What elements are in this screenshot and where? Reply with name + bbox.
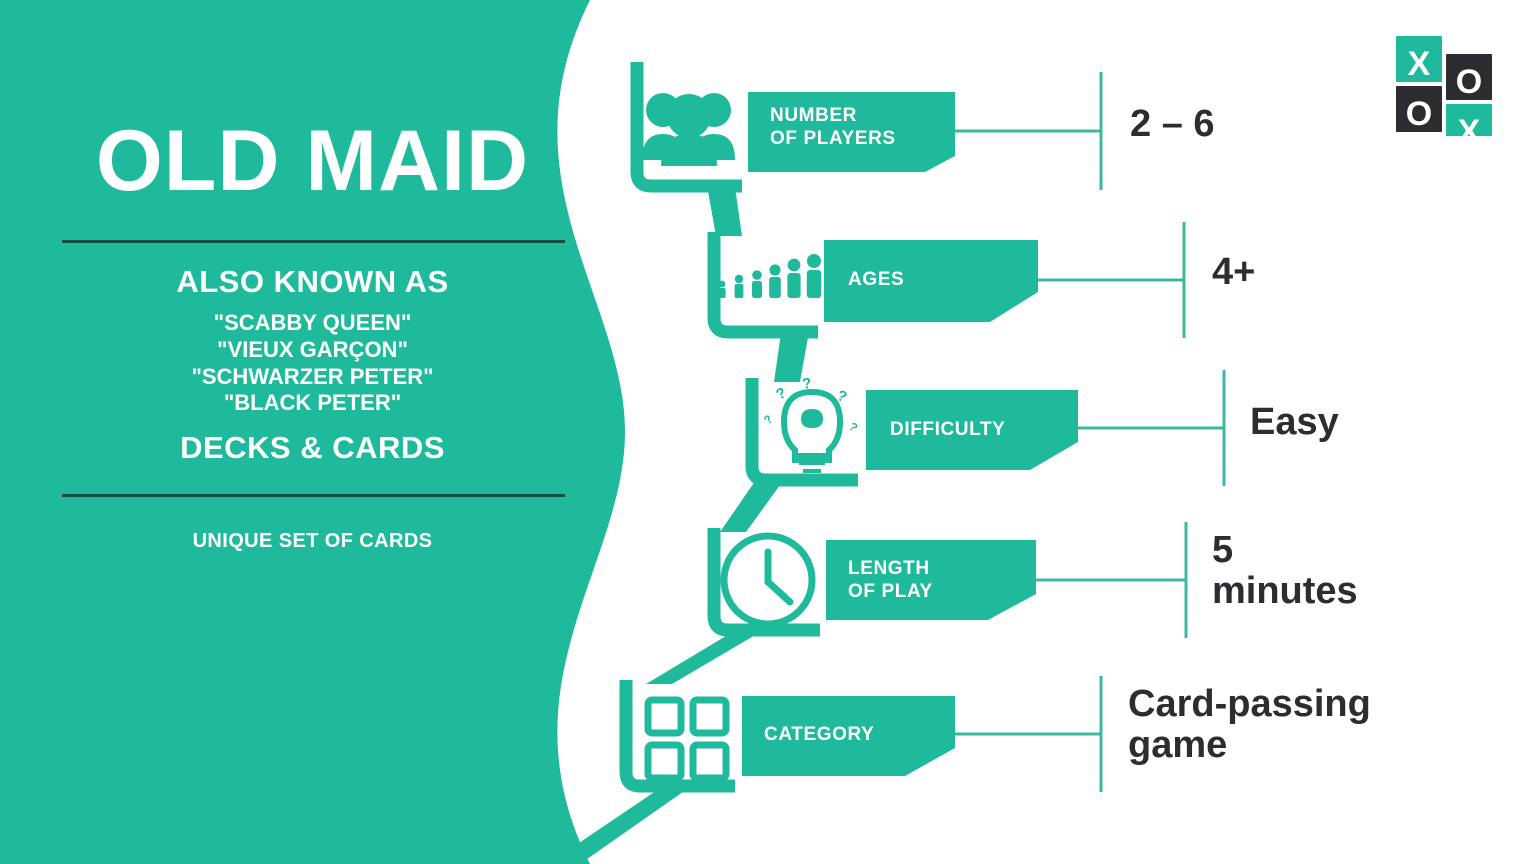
svg-text:?: ? <box>773 384 789 403</box>
row-value-number-of-players: 2 – 6 <box>1130 104 1215 145</box>
svg-text:?: ? <box>846 419 860 435</box>
svg-text:?: ? <box>801 375 812 393</box>
logo-tile-1-glyph: O <box>1456 63 1482 101</box>
lightbulb-brain-icon: ? ? ? ? ? <box>761 375 861 471</box>
row-label-ages: AGES <box>848 268 904 291</box>
tic-tac-toe-logo[interactable]: X O O X <box>1390 28 1498 136</box>
svg-text:?: ? <box>835 387 850 406</box>
info-rows: ? ? ? ? ? NUMBER OF PLAYERS <box>0 0 1536 864</box>
row-value-difficulty: Easy <box>1250 402 1339 443</box>
row-value-category: Card-passing game <box>1128 684 1371 766</box>
row-label-length-of-play: LENGTH OF PLAY <box>848 557 933 603</box>
four-squares-grid-icon <box>648 700 726 778</box>
infographic-poster: OLD MAID ALSO KNOWN AS "SCABBY QUEEN" "V… <box>0 0 1536 864</box>
row-value-ages: 4+ <box>1212 252 1255 293</box>
clock-icon <box>724 536 812 624</box>
row-value-length-of-play: 5 minutes <box>1212 530 1358 612</box>
group-of-people-icon <box>642 93 735 166</box>
row-label-difficulty: DIFFICULTY <box>890 418 1005 441</box>
logo-tile-2-glyph: O <box>1406 95 1432 133</box>
row-label-category: CATEGORY <box>764 723 874 746</box>
row-label-number-of-players: NUMBER OF PLAYERS <box>770 104 896 150</box>
logo-tile-3-glyph: X <box>1458 113 1481 136</box>
svg-text:?: ? <box>761 412 776 427</box>
logo-tile-0-glyph: X <box>1408 45 1431 83</box>
